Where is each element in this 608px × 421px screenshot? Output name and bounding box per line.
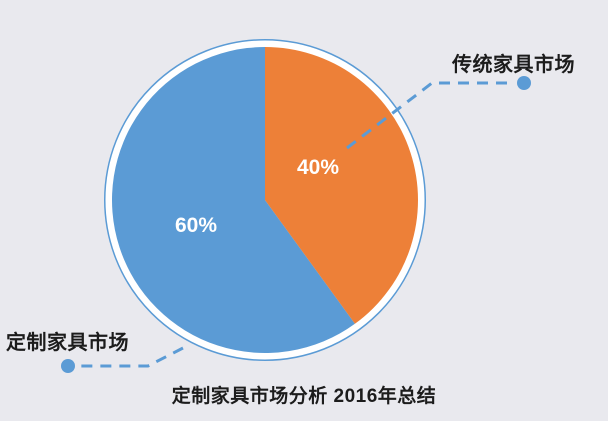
callout-dot-custom [61, 359, 75, 373]
chart-title: 定制家具市场分析 2016年总结 [0, 381, 608, 408]
callout-label-custom-furniture: 定制家具市场 [6, 326, 129, 355]
callout-dot-traditional [517, 76, 531, 90]
callout-label-traditional-furniture: 传统家具市场 [452, 48, 575, 77]
slice-value-traditional-furniture: 40% [297, 156, 339, 180]
slice-value-custom-furniture: 60% [175, 214, 217, 238]
pie-chart-canvas: 传统家具市场 定制家具市场 40% 60% 定制家具市场分析 2016年总结 [0, 0, 608, 421]
